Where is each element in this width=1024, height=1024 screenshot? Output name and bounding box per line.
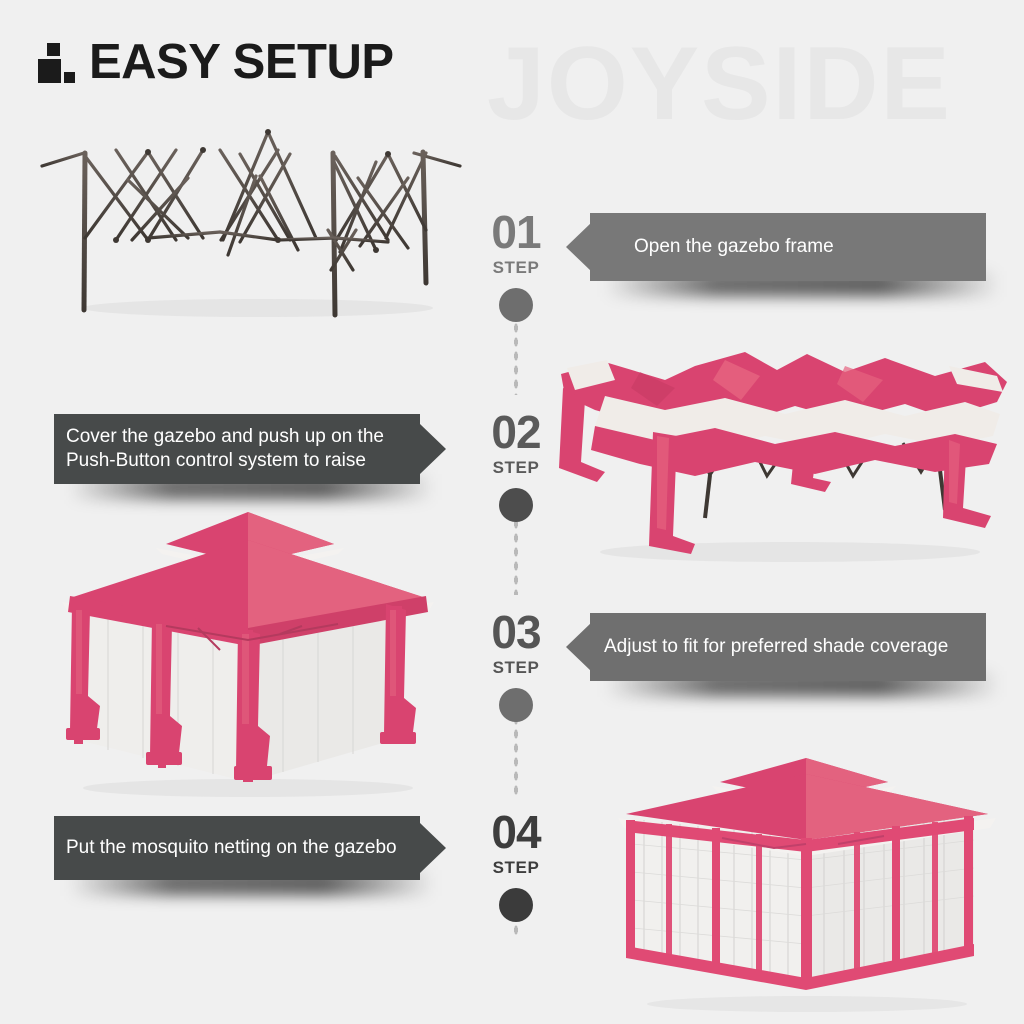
arrow-tip-left-icon [566,222,592,272]
gazebo-with-netting-photo [592,752,1012,1014]
callout-step-01: Open the gazebo frame [590,213,986,281]
step-marker-04: 04 STEP [470,809,562,922]
callout-step-03: Adjust to fit for preferred shade covera… [590,613,986,681]
callout-text: Open the gazebo frame [634,235,834,259]
callout-step-02: Cover the gazebo and push up on the Push… [54,414,420,484]
arrow-tip-left-icon [566,622,592,672]
banner-shadow [604,271,1000,297]
three-squares-logo-icon [38,43,72,83]
step-word: STEP [470,658,562,678]
step-marker-01: 01 STEP [470,209,562,322]
gazebo-frame-folded-photo [28,120,468,320]
step-word: STEP [470,258,562,278]
page-header: EASY SETUP [38,38,394,87]
infographic-canvas: JOYSIDE EASY SETUP [0,0,1024,1024]
step-bullet [499,488,533,522]
step-bullet [499,888,533,922]
step-marker-02: 02 STEP [470,409,562,522]
step-bullet [499,288,533,322]
step-marker-03: 03 STEP [470,609,562,722]
step-number: 01 [470,209,562,255]
gazebo-erected-photo [48,500,448,800]
callout-step-04: Put the mosquito netting on the gazebo [54,816,420,880]
step-number: 03 [470,609,562,655]
gazebo-canopy-draped-photo [545,340,1015,565]
banner-shadow [604,671,1000,697]
step-bullet [499,688,533,722]
callout-text: Adjust to fit for preferred shade covera… [604,635,948,659]
callout-text: Put the mosquito netting on the gazebo [66,836,397,860]
page-title: EASY SETUP [89,38,394,87]
step-number: 02 [470,409,562,455]
step-word: STEP [470,858,562,878]
banner-shadow [68,870,434,896]
callout-text: Cover the gazebo and push up on the Push… [66,425,384,474]
step-timeline: 01 STEP 02 STEP 03 STEP 04 STEP [470,195,562,935]
step-number: 04 [470,809,562,855]
step-word: STEP [470,458,562,478]
banner-shadow [68,474,434,500]
arrow-tip-right-icon [420,424,446,474]
arrow-tip-right-icon [420,823,446,873]
brand-watermark: JOYSIDE [487,32,952,136]
